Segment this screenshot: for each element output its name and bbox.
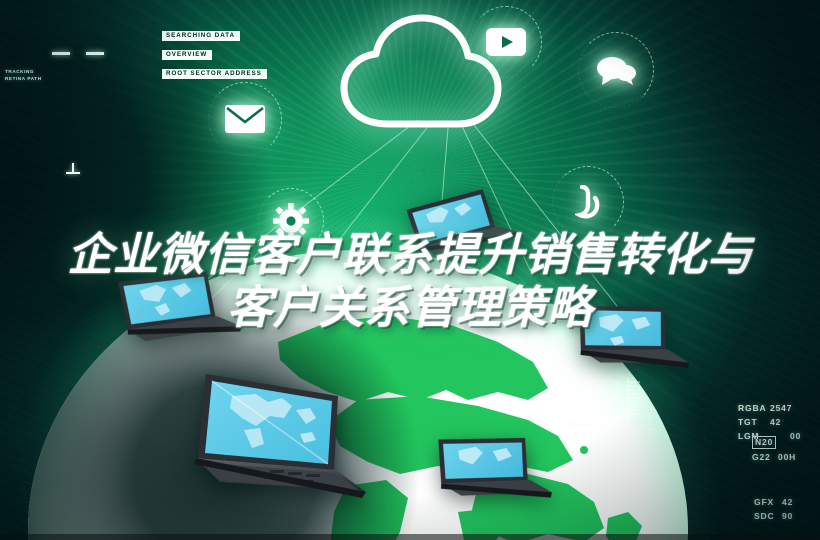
poster-canvas: SEARCHING DATA OVERVIEW ROOT SECTOR ADDR… — [0, 0, 820, 540]
vignette-overlay — [0, 0, 820, 540]
bottom-edge-bar — [0, 534, 820, 540]
